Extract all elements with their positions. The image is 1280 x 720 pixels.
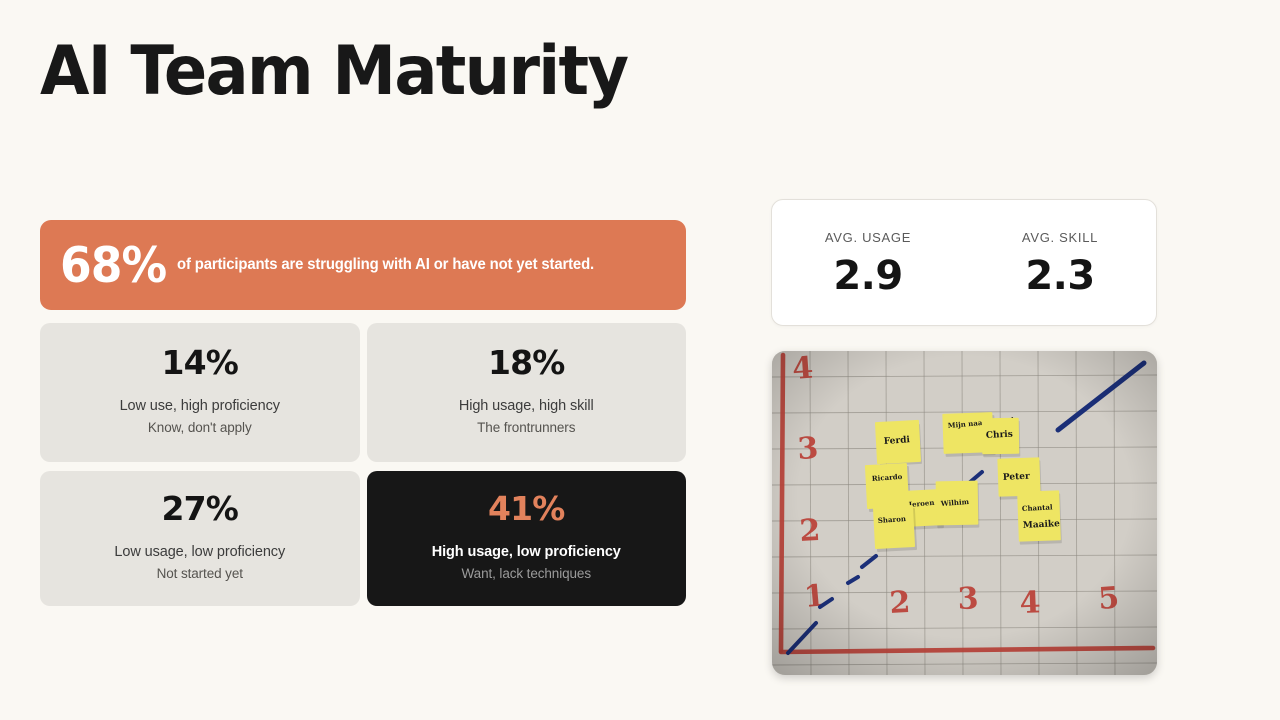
quadrant-percent: 27% xyxy=(161,492,238,527)
whiteboard-photo[interactable]: 4 3 2 1 2 3 4 5 xyxy=(772,351,1157,675)
stat-avg-usage: AVG. USAGE 2.9 xyxy=(772,230,964,296)
quadrant-secondary-label: Want, lack techniques xyxy=(462,563,591,585)
quadrant-percent: 14% xyxy=(161,346,238,381)
quadrant-grid: 14% Low use, high proficiency Know, don'… xyxy=(40,323,686,606)
headline-stat-banner: 68% of participants are struggling with … xyxy=(40,220,686,310)
page-title: AI Team Maturity xyxy=(40,38,627,106)
banner-percent: 68% xyxy=(60,241,166,290)
quadrant-percent: 41% xyxy=(488,492,565,527)
quadrant-secondary-label: The frontrunners xyxy=(477,417,575,439)
quadrant-primary-label: Low use, high proficiency xyxy=(120,395,280,417)
whiteboard-illustration: 4 3 2 1 2 3 4 5 xyxy=(772,351,1157,675)
stat-label: AVG. USAGE xyxy=(772,230,964,245)
slide-root: AI Team Maturity 68% of participants are… xyxy=(0,0,1280,720)
quadrant-card-high-usage-low-proficiency[interactable]: 41% High usage, low proficiency Want, la… xyxy=(367,471,687,606)
stat-avg-skill: AVG. SKILL 2.3 xyxy=(964,230,1156,296)
quadrant-card-high-usage-high-skill[interactable]: 18% High usage, high skill The frontrunn… xyxy=(367,323,687,462)
quadrant-percent: 18% xyxy=(488,346,565,381)
quadrant-card-low-usage-low-proficiency[interactable]: 27% Low usage, low proficiency Not start… xyxy=(40,471,360,606)
averages-panel: AVG. USAGE 2.9 AVG. SKILL 2.3 xyxy=(771,199,1157,326)
quadrant-primary-label: High usage, high skill xyxy=(459,395,594,417)
quadrant-secondary-label: Not started yet xyxy=(157,563,243,585)
quadrant-card-low-use-high-proficiency[interactable]: 14% Low use, high proficiency Know, don'… xyxy=(40,323,360,462)
quadrant-primary-label: High usage, low proficiency xyxy=(432,541,621,563)
quadrant-primary-label: Low usage, low proficiency xyxy=(114,541,285,563)
quadrant-secondary-label: Know, don't apply xyxy=(148,417,252,439)
stat-value: 2.3 xyxy=(964,256,1156,296)
stat-value: 2.9 xyxy=(772,256,964,296)
stat-label: AVG. SKILL xyxy=(964,230,1156,245)
left-column: 68% of participants are struggling with … xyxy=(40,220,686,606)
banner-text: of participants are struggling with AI o… xyxy=(177,256,594,274)
